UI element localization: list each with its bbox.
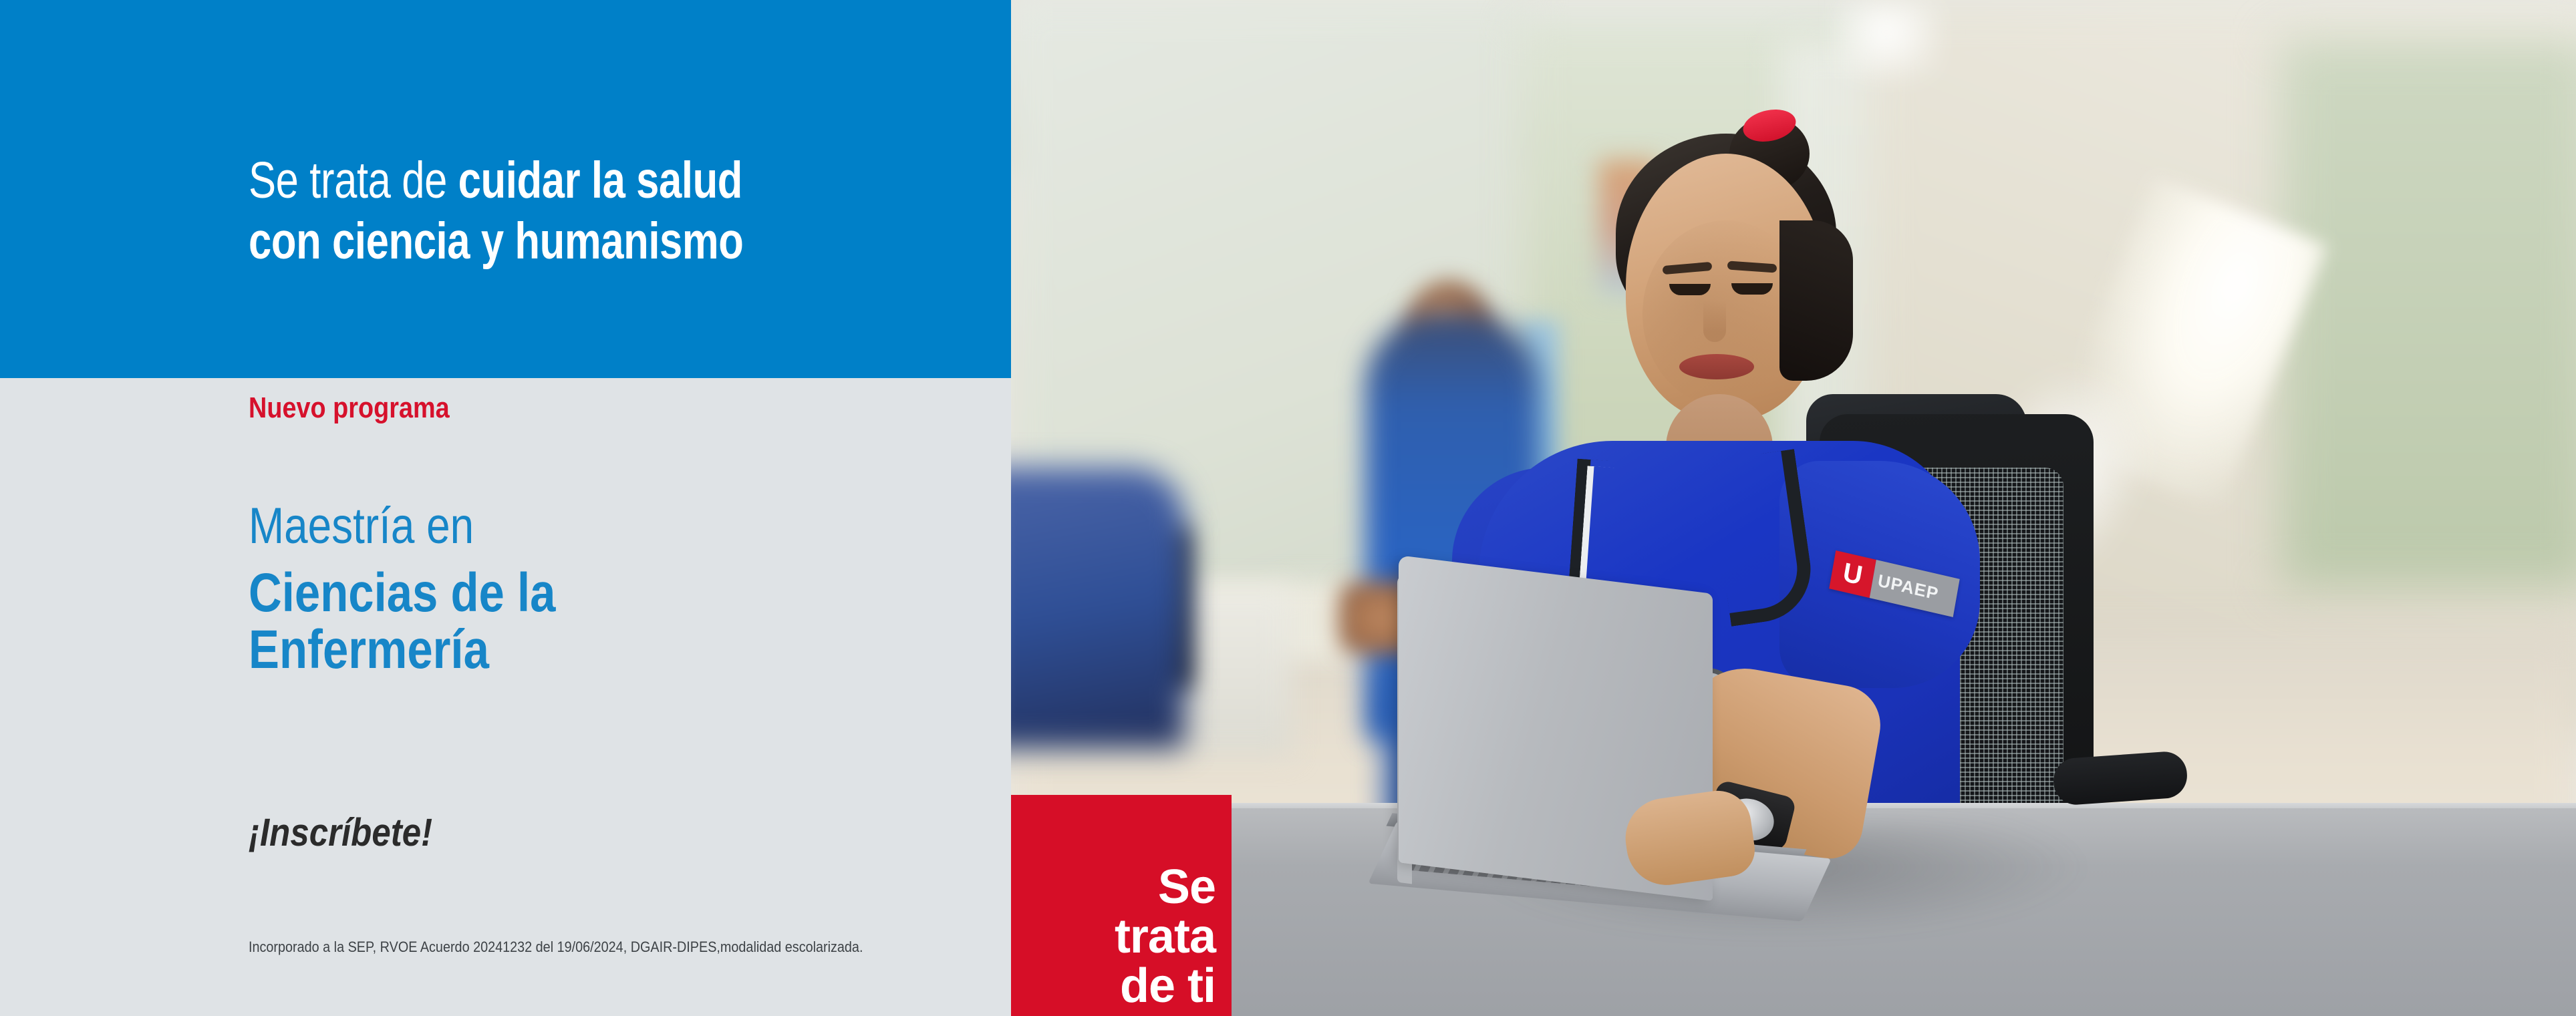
banner-headline: Se trata de cuidar la salud con ciencia … xyxy=(249,150,847,272)
program-eyebrow-label: Nuevo programa xyxy=(249,391,450,425)
program-degree-prefix: Maestría en xyxy=(249,501,474,552)
hero-photo: U UPAEP xyxy=(1011,0,2576,1016)
headline-light-text: Se trata de xyxy=(249,152,458,209)
person-eye-left xyxy=(1669,284,1711,295)
person-eye-right xyxy=(1731,283,1773,295)
brand-slogan-box: Se trata de ti xyxy=(1011,795,1232,1016)
headline-panel: Se trata de cuidar la salud con ciencia … xyxy=(0,0,1011,378)
brand-slogan-line-3: de ti xyxy=(1120,959,1215,1013)
program-degree-name-line-2: Enfermería xyxy=(249,619,489,680)
program-degree-name: Ciencias de la Enfermería xyxy=(249,564,922,679)
brand-slogan-line-1: Se xyxy=(1158,860,1215,914)
person-hair-side xyxy=(1779,220,1853,381)
program-degree-name-line-1: Ciencias de la xyxy=(249,562,555,623)
photo-wall-far xyxy=(2281,40,2576,588)
person-nose xyxy=(1703,301,1726,342)
promo-banner: U UPAEP Se trata de cuidar la salud con … xyxy=(0,0,2576,1016)
headline-bold-line-1: cuidar la salud xyxy=(458,152,742,209)
brand-slogan-text: Se trata de ti xyxy=(1115,862,1215,1011)
office-chair-armrest xyxy=(2052,750,2188,806)
headline-bold-line-2: con ciencia y humanismo xyxy=(249,212,744,270)
legal-disclaimer: Incorporado a la SEP, RVOE Acuerdo 20241… xyxy=(249,939,863,956)
enroll-cta-text[interactable]: ¡Inscríbete! xyxy=(249,810,432,855)
photo-ceiling-light-strip xyxy=(1833,0,1940,80)
person-lips xyxy=(1679,354,1754,379)
photo-background-seated-person xyxy=(1011,468,1185,748)
brand-slogan-line-2: trata xyxy=(1115,910,1215,963)
program-panel xyxy=(0,378,1011,1016)
